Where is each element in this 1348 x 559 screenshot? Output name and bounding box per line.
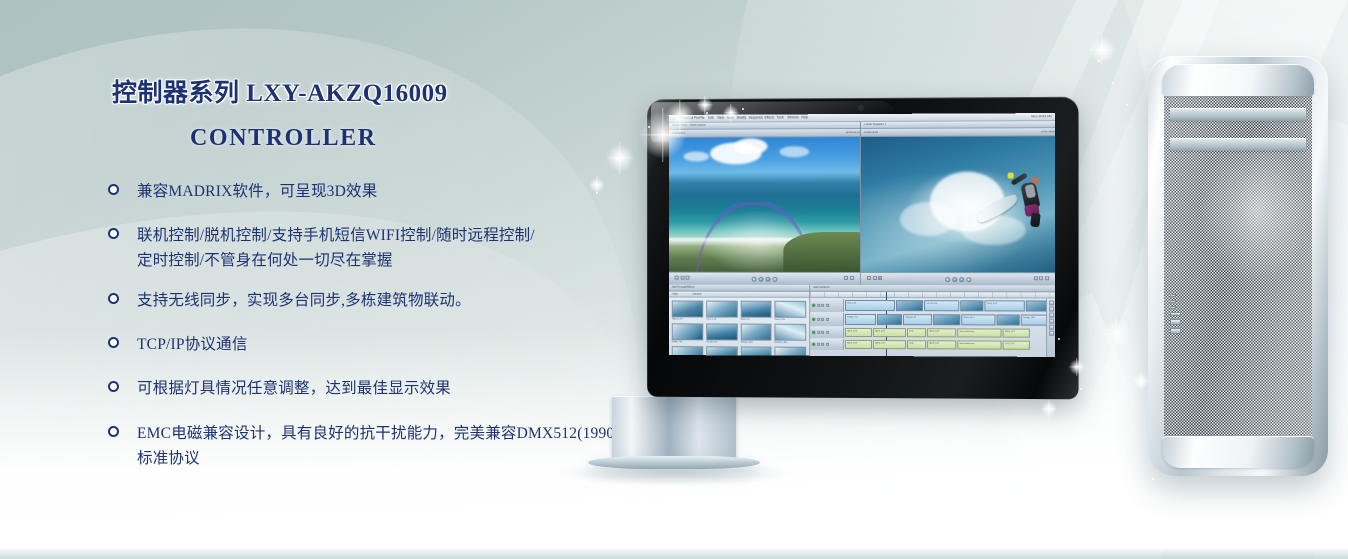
timeline-clip[interactable]: Air_Reverse bbox=[924, 300, 960, 311]
zoom-tool-icon[interactable] bbox=[1049, 319, 1054, 324]
clip-label: MUS_LFT bbox=[874, 329, 887, 333]
zoom-button[interactable] bbox=[844, 276, 848, 280]
feature-text: TCP/IP协议通信 bbox=[137, 332, 660, 357]
feature-text: 联机控制/脱机控制/支持手机短信WIFI控制/随时远程控制/ bbox=[137, 223, 660, 248]
track-visibility-icon[interactable] bbox=[821, 304, 824, 307]
record-button[interactable] bbox=[878, 276, 882, 280]
timeline-audio-clip[interactable]: NAT bbox=[907, 340, 926, 349]
menu-item-file[interactable]: File bbox=[699, 116, 704, 120]
timeline-panel[interactable]: Surf Cut Rev3 bbox=[810, 285, 1055, 357]
mac-pro-tower bbox=[1148, 56, 1328, 476]
clip-label: Lineup_AM bbox=[1021, 316, 1035, 320]
track-header[interactable] bbox=[810, 299, 844, 312]
timeline-audio-clip[interactable]: CUT_LFT bbox=[1002, 341, 1029, 350]
pen-tool-icon[interactable] bbox=[1049, 331, 1054, 336]
play-button[interactable] bbox=[945, 277, 950, 282]
menu-item-mark[interactable]: Mark bbox=[727, 116, 734, 120]
zoom-button-group[interactable] bbox=[844, 276, 854, 280]
track-enable-led-icon[interactable] bbox=[812, 318, 815, 321]
timecode-duration-right[interactable]: 01:01:36:00 bbox=[1041, 130, 1055, 133]
zoom-button[interactable] bbox=[1039, 276, 1043, 280]
viewer-image-surfer bbox=[861, 136, 1055, 272]
list-item[interactable]: Paddle_Out bbox=[672, 323, 703, 343]
timeline-audio-clip[interactable]: MUS_LFT bbox=[927, 340, 956, 349]
copy-block: 控制器系列 LXY-AKZQ16009 CONTROLLER 兼容MADRIX软… bbox=[0, 0, 660, 490]
record-button-group[interactable] bbox=[867, 276, 882, 280]
menu-item-effects[interactable]: Effects bbox=[765, 116, 775, 120]
list-item[interactable]: Wipeout_01 bbox=[672, 301, 703, 321]
clip-label: MUS_LFT bbox=[928, 329, 941, 333]
sparkle-dust bbox=[648, 126, 650, 128]
timeline-audio-clip[interactable]: Surf-Amb-Loop bbox=[957, 340, 1001, 349]
coastal-headland bbox=[783, 231, 861, 272]
list-item: 支持无线同步，实现多台同步,多栋建筑物联动。 bbox=[108, 288, 660, 313]
sparkle-dust bbox=[1098, 60, 1100, 62]
timeline-track-v1[interactable]: Paddle_Out Wipeout_01 Drone_Reef Lineup_… bbox=[810, 313, 1055, 327]
next-frame-button[interactable] bbox=[966, 277, 971, 282]
timeline-audio-clip[interactable]: Surf-Amb-Loop bbox=[957, 328, 1001, 337]
feature-text: 定时控制/不管身在何处一切尽在掌握 bbox=[137, 248, 660, 273]
track-target-icon[interactable] bbox=[826, 318, 829, 321]
clip-thumbnail[interactable] bbox=[775, 324, 807, 341]
browser-panel[interactable]: Surf Footage Effects Name Duration Wipeo… bbox=[669, 285, 811, 357]
list-item[interactable]: Sunset_Pan bbox=[775, 301, 807, 321]
timeline-track-v2[interactable]: Barrel_02 Air_Reverse Carve_Left bbox=[810, 299, 1055, 313]
monitor-screen:  Final Cut Pro File Edit View Mark Modi… bbox=[669, 113, 1055, 357]
track-body[interactable]: MUS_LFT MUS_LFT NAT MUS_LFT Surf-Amb-Loo… bbox=[844, 339, 1055, 351]
cinema-display-monitor:  Final Cut Pro File Edit View Mark Modi… bbox=[645, 98, 1077, 398]
menubar-clock[interactable]: Mon 10:51 AM bbox=[1031, 115, 1051, 119]
clip-label: MUS_LFT bbox=[874, 341, 887, 345]
sparkle-dust bbox=[1112, 82, 1114, 84]
firewire-800-port[interactable] bbox=[1170, 319, 1181, 325]
timeline-clip[interactable]: Wipeout_01 bbox=[903, 314, 932, 325]
clip-thumbnail[interactable] bbox=[706, 301, 737, 318]
feature-text: 兼容MADRIX软件，可呈现3D效果 bbox=[137, 179, 660, 204]
track-solo-icon[interactable] bbox=[821, 343, 824, 346]
track-solo-icon[interactable] bbox=[821, 331, 824, 334]
list-item[interactable]: Shore_Break bbox=[740, 346, 771, 356]
clip-label: MUS_LFT bbox=[846, 341, 858, 345]
tab-video[interactable]: Video bbox=[681, 124, 688, 127]
timeline-audio-clip[interactable]: MUS_LFT bbox=[845, 340, 872, 349]
firewire-port[interactable] bbox=[1170, 294, 1176, 297]
viewer-panel-right[interactable]: Canvas Sequence 1 01:00:18:06 01:01:36:0… bbox=[861, 121, 1055, 272]
list-item[interactable]: Barrel_02 bbox=[740, 301, 771, 321]
monitor-stand-neck bbox=[612, 396, 736, 460]
track-visibility-icon[interactable] bbox=[821, 318, 824, 321]
list-item: 可根据灯具情况任意调整，达到最佳显示效果 bbox=[108, 376, 660, 401]
track-enable-led-icon[interactable] bbox=[812, 331, 815, 334]
list-item[interactable]: Air_Reverse bbox=[706, 323, 737, 343]
transport-controls-left[interactable] bbox=[669, 272, 861, 285]
cloud-shape bbox=[684, 151, 710, 161]
tab-viewer[interactable]: Viewer bbox=[672, 125, 680, 128]
timeline-track-a2[interactable]: MUS_LFT MUS_LFT NAT MUS_LFT Surf-Amb-Loo… bbox=[810, 339, 1055, 351]
timeline-clip[interactable] bbox=[877, 314, 902, 325]
zoom-button-group[interactable] bbox=[1034, 276, 1049, 280]
list-item[interactable]: Rainbow_Bay bbox=[775, 324, 807, 344]
clip-label: MUS_LFT bbox=[846, 329, 858, 333]
clip-thumbnail[interactable] bbox=[775, 301, 807, 318]
track-lock-icon[interactable] bbox=[817, 318, 820, 321]
menu-item-window[interactable]: Window bbox=[787, 116, 798, 120]
camera-dot-icon bbox=[859, 106, 863, 110]
next-frame-button[interactable] bbox=[772, 276, 777, 281]
browser-thumbnail-grid[interactable]: Wipeout_01 Carve_Left Barrel_02 Sunset_P… bbox=[669, 298, 810, 357]
sparkle-dust bbox=[742, 108, 744, 110]
tower-chassis bbox=[1148, 56, 1328, 476]
sequence-name[interactable]: Sequence 1 bbox=[873, 124, 886, 127]
marker-button[interactable] bbox=[686, 276, 690, 280]
transport-controls-right[interactable] bbox=[861, 272, 1055, 285]
marker-button[interactable] bbox=[675, 276, 679, 280]
clip-label: Carve_Left bbox=[986, 301, 999, 305]
timeline-audio-clip[interactable]: MUS_LFT bbox=[873, 328, 906, 337]
sparkle-dust bbox=[1058, 338, 1060, 340]
usb-port[interactable] bbox=[1170, 312, 1181, 316]
viewer-panel-left[interactable]: Viewer Video Filters Motion 00:00:14:22 … bbox=[669, 122, 861, 272]
clip-thumbnail[interactable] bbox=[740, 324, 771, 341]
bullet-circle-icon bbox=[108, 293, 119, 304]
monitor-stand-base bbox=[588, 456, 760, 469]
bullet-circle-icon bbox=[108, 426, 119, 437]
menu-item-app[interactable]: Final Cut Pro bbox=[681, 116, 700, 120]
cloud-shape bbox=[779, 147, 809, 158]
feature-list: 兼容MADRIX软件，可呈现3D效果 联机控制/脱机控制/支持手机短信WIFI控… bbox=[0, 179, 660, 471]
feature-text: 可根据灯具情况任意调整，达到最佳显示效果 bbox=[137, 376, 660, 401]
bullet-circle-icon bbox=[108, 337, 119, 348]
surfer-leg bbox=[1030, 212, 1041, 227]
menu-item-tools[interactable]: Tools bbox=[777, 116, 784, 120]
menu-item-sequence[interactable]: Sequence bbox=[749, 116, 763, 120]
timeline-audio-clip[interactable]: NAT bbox=[907, 328, 926, 337]
track-enable-led-icon[interactable] bbox=[812, 304, 815, 307]
tab-canvas[interactable]: Canvas bbox=[864, 124, 872, 127]
clip-label: CUT_LFT bbox=[1003, 342, 1015, 346]
clip-thumbnail[interactable] bbox=[740, 346, 771, 356]
zoom-button[interactable] bbox=[1045, 276, 1049, 280]
tower-handle-top bbox=[1162, 64, 1314, 96]
bullet-circle-icon bbox=[108, 381, 119, 392]
edit-tool-icon[interactable] bbox=[1049, 307, 1054, 312]
clip-name: Wipeout_01 bbox=[672, 318, 711, 321]
clip-name: Carve_Left bbox=[706, 318, 745, 321]
timeline-tool-palette[interactable] bbox=[1046, 298, 1055, 356]
clip-name: Rainbow_Bay bbox=[775, 341, 810, 344]
timeline-audio-clip[interactable]: MUS_LFT bbox=[1002, 329, 1029, 338]
audio-jack-port[interactable] bbox=[1170, 306, 1176, 309]
title-group: 控制器系列 LXY-AKZQ16009 CONTROLLER bbox=[0, 0, 660, 151]
play-button[interactable] bbox=[751, 276, 756, 281]
clip-label: MUS_LFT bbox=[928, 341, 941, 345]
viewer-row: Viewer Video Filters Motion 00:00:14:22 … bbox=[669, 121, 1055, 272]
pause-button[interactable] bbox=[952, 277, 957, 282]
surfer-glove bbox=[1007, 172, 1013, 178]
timeline-clip[interactable]: Paddle_Out bbox=[845, 314, 876, 325]
pause-button[interactable] bbox=[758, 276, 763, 281]
timeline-clip[interactable] bbox=[996, 314, 1019, 325]
tower-handle-bottom bbox=[1162, 436, 1314, 468]
clip-label: NAT bbox=[908, 329, 915, 333]
track-body[interactable]: MUS_LFT MUS_LFT NAT MUS_LFT Surf-Amb-Loo… bbox=[844, 327, 1055, 339]
clip-label: Air_Reverse bbox=[925, 301, 939, 305]
timecode-duration-left[interactable]: 00:00:42:10 bbox=[846, 131, 860, 134]
insert-edit-button[interactable] bbox=[867, 276, 871, 280]
track-mute-icon[interactable] bbox=[817, 343, 820, 346]
clip-name: Sunset_Pan bbox=[775, 318, 810, 321]
sparkle-dust bbox=[1120, 430, 1122, 432]
tab-sequence[interactable]: Surf Cut Rev3 bbox=[813, 287, 829, 290]
timeline-clip[interactable] bbox=[933, 314, 960, 325]
timeline-track-a1[interactable]: MUS_LFT MUS_LFT NAT MUS_LFT Surf-Amb-Loo… bbox=[810, 327, 1055, 339]
feature-text: 支持无线同步，实现多台同步,多栋建筑物联动。 bbox=[137, 288, 660, 313]
track-header[interactable] bbox=[810, 339, 844, 350]
clip-label: NAT bbox=[908, 341, 915, 345]
clip-label: Drone_Reef bbox=[963, 315, 977, 319]
cloud-shape bbox=[733, 139, 767, 155]
bullet-circle-icon bbox=[108, 184, 119, 195]
track-enable-led-icon[interactable] bbox=[812, 343, 815, 346]
sparkle-dust bbox=[1020, 432, 1022, 434]
clip-label: Surf-Amb-Loop bbox=[958, 341, 975, 345]
clip-label: Barrel_02 bbox=[846, 301, 857, 305]
list-item: 联机控制/脱机控制/支持手机短信WIFI控制/随时远程控制/ 定时控制/不管身在… bbox=[108, 223, 660, 273]
timeline-audio-clip[interactable]: MUS_LFT bbox=[873, 340, 906, 349]
tab-motion[interactable]: Motion bbox=[697, 124, 705, 127]
list-item[interactable]: Bottom_Turn bbox=[740, 324, 771, 344]
sparkle-dust bbox=[1080, 388, 1082, 390]
razor-tool-icon[interactable] bbox=[1049, 313, 1054, 318]
sparkle-dust bbox=[596, 192, 598, 194]
background-bottom-strip bbox=[0, 547, 1348, 559]
sparkle-dust bbox=[1152, 478, 1154, 480]
list-item[interactable]: Cliff_Wide bbox=[775, 347, 807, 357]
track-target-icon[interactable] bbox=[826, 343, 829, 346]
timeline-clip[interactable]: Carve_Left bbox=[985, 300, 1025, 311]
stop-button[interactable] bbox=[959, 277, 964, 282]
track-mute-icon[interactable] bbox=[817, 331, 820, 334]
headphone-port[interactable] bbox=[1170, 328, 1181, 334]
tower-reflection bbox=[1162, 534, 1314, 559]
marker-button[interactable] bbox=[680, 276, 684, 280]
menu-item-modify[interactable]: Modify bbox=[737, 116, 746, 120]
selection-tool-icon[interactable] bbox=[1049, 300, 1054, 305]
sparkle-dust bbox=[706, 112, 708, 114]
zoom-button[interactable] bbox=[850, 276, 854, 280]
clip-thumbnail[interactable] bbox=[740, 301, 771, 318]
timeline-clip[interactable]: Drone_Reef bbox=[962, 314, 996, 325]
page-subtitle: CONTROLLER bbox=[0, 125, 660, 151]
clip-thumbnail[interactable] bbox=[672, 301, 703, 318]
tab-surf-footage[interactable]: Surf Footage bbox=[672, 286, 687, 289]
optical-drive-slot[interactable] bbox=[1170, 138, 1306, 151]
track-target-icon[interactable] bbox=[826, 331, 829, 334]
tab-effects[interactable]: Effects bbox=[687, 286, 695, 289]
timeline-clip[interactable] bbox=[961, 300, 984, 311]
list-item: 兼容MADRIX软件，可呈现3D效果 bbox=[108, 179, 660, 204]
sparkle-dust bbox=[672, 116, 674, 118]
clip-label: MUS_LFT bbox=[1003, 330, 1016, 334]
water-spray bbox=[900, 202, 956, 236]
timecode-current-left[interactable]: 00:00:14:22 bbox=[672, 132, 686, 135]
track-header[interactable] bbox=[810, 313, 844, 326]
clip-name: Paddle_Out bbox=[672, 341, 711, 344]
clip-label: Wipeout_01 bbox=[904, 315, 918, 319]
menu-item-view[interactable]: View bbox=[717, 116, 724, 120]
viewer-image-beach bbox=[669, 137, 860, 272]
surfer-vest bbox=[1024, 184, 1036, 199]
zoom-button[interactable] bbox=[1034, 276, 1038, 280]
clip-label: Surf-Amb-Loop bbox=[958, 329, 975, 333]
clip-label: Paddle_Out bbox=[846, 315, 859, 319]
bullet-circle-icon bbox=[108, 228, 119, 239]
column-header-name[interactable]: Name bbox=[672, 293, 678, 296]
track-header[interactable] bbox=[810, 327, 844, 338]
clip-thumbnail[interactable] bbox=[775, 347, 807, 357]
track-body[interactable]: Paddle_Out Wipeout_01 Drone_Reef Lineup_… bbox=[844, 313, 1055, 327]
timeline-clip[interactable] bbox=[896, 300, 923, 311]
timeline-clip[interactable]: Barrel_02 bbox=[845, 300, 895, 311]
track-lock-icon[interactable] bbox=[817, 304, 820, 307]
sparkle-dust bbox=[616, 158, 618, 160]
product-banner: 控制器系列 LXY-AKZQ16009 CONTROLLER 兼容MADRIX软… bbox=[0, 0, 1348, 559]
timecode-current-right[interactable]: 01:00:18:06 bbox=[864, 131, 878, 134]
list-item[interactable]: Carve_Left bbox=[706, 301, 737, 321]
track-target-icon[interactable] bbox=[826, 304, 829, 307]
overwrite-edit-button[interactable] bbox=[873, 276, 877, 280]
crop-tool-icon[interactable] bbox=[1049, 325, 1054, 330]
timeline-audio-clip[interactable]: MUS_LFT bbox=[927, 328, 956, 337]
timeline-tracks[interactable]: Barrel_02 Air_Reverse Carve_Left bbox=[810, 298, 1055, 357]
optical-drive-slot[interactable] bbox=[1170, 108, 1306, 121]
timeline-audio-clip[interactable]: MUS_LFT bbox=[845, 328, 872, 337]
list-item: TCP/IP协议通信 bbox=[108, 332, 660, 357]
sparkle-dust bbox=[1126, 104, 1128, 106]
menu-item-edit[interactable]: Edit bbox=[708, 116, 713, 120]
clip-thumbnail[interactable] bbox=[706, 323, 737, 340]
marker-button-group[interactable] bbox=[675, 276, 690, 280]
lower-row: Surf Footage Effects Name Duration Wipeo… bbox=[669, 285, 1055, 357]
clip-name: Air_Reverse bbox=[706, 341, 745, 344]
clip-thumbnail[interactable] bbox=[672, 323, 703, 340]
transport-controls-row bbox=[669, 272, 1055, 286]
column-header-duration[interactable]: Duration bbox=[692, 293, 701, 296]
menu-item-help[interactable]: Help bbox=[801, 116, 808, 120]
usb-port[interactable] bbox=[1170, 300, 1176, 303]
tab-filters[interactable]: Filters bbox=[689, 124, 696, 127]
track-body[interactable]: Barrel_02 Air_Reverse Carve_Left bbox=[844, 299, 1055, 313]
io-port-cluster[interactable] bbox=[1170, 294, 1184, 334]
surfer-figure bbox=[1003, 166, 1039, 224]
page-title: 控制器系列 LXY-AKZQ16009 bbox=[0, 80, 660, 108]
menubar-spacer bbox=[811, 117, 1031, 118]
stop-button[interactable] bbox=[765, 276, 770, 281]
